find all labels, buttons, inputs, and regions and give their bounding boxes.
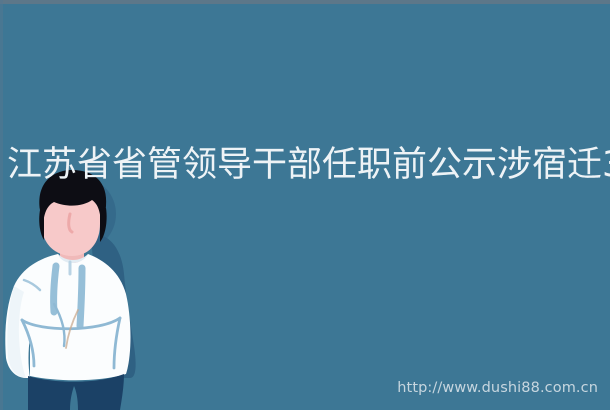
news-thumbnail-image: 江苏省省管领导干部任职前公示涉宿迁3名 http://www.dushi88.c… <box>0 0 610 410</box>
hair-sideburn-left <box>39 210 44 240</box>
top-edge-band <box>0 0 610 4</box>
source-watermark: http://www.dushi88.com.cn <box>397 380 598 396</box>
drawstring-right <box>80 268 82 326</box>
person-illustration-svg <box>0 170 180 410</box>
person-illustration <box>0 170 180 410</box>
hoodie <box>5 254 130 380</box>
page-title: 江苏省省管领导干部任职前公示涉宿迁3名 <box>7 144 607 186</box>
